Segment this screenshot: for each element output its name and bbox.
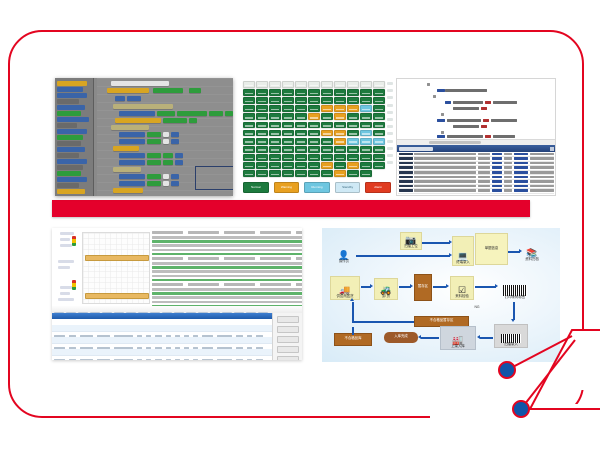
workspace-block-40[interactable] [163, 181, 169, 186]
status-cell-r6-c1[interactable] [256, 130, 268, 137]
status-cell-r8-c1[interactable] [256, 146, 268, 153]
status-cell-r0-c9[interactable] [360, 81, 372, 88]
table-side-button-0[interactable] [277, 316, 299, 323]
workspace-block-31[interactable] [163, 160, 173, 165]
status-cell-r0-c0[interactable] [243, 81, 255, 88]
status-cell-r6-c9[interactable] [360, 130, 372, 137]
status-cell-r5-c7[interactable] [334, 122, 346, 129]
log-segment-3 [492, 180, 502, 183]
status-cell-r10-c8[interactable] [347, 162, 359, 169]
planner-task-bar-0[interactable] [85, 255, 149, 261]
status-cell-r1-c4[interactable] [295, 89, 307, 96]
workspace-block-12[interactable] [115, 118, 161, 123]
workspace-block-36[interactable] [163, 174, 169, 179]
console-title-text [399, 147, 433, 151]
status-cell-r3-c3[interactable] [282, 105, 294, 112]
status-cell-r2-c3[interactable] [282, 97, 294, 104]
status-cell-r11-c9[interactable] [360, 170, 372, 177]
status-cell-r1-c3[interactable] [282, 89, 294, 96]
status-cell-r1-c1[interactable] [256, 89, 268, 96]
palette-block-14[interactable] [57, 165, 83, 170]
slide-content: NormalWarningRunningStandbyAlarm 📷 扫描工位 [0, 0, 600, 450]
workspace-block-2[interactable] [153, 88, 183, 93]
code-token-19 [447, 135, 483, 138]
planner-task-bar-1[interactable] [85, 293, 149, 299]
status-cell-r2-c10[interactable] [373, 97, 385, 104]
status-cell-r10-c2[interactable] [269, 162, 281, 169]
status-grid-legend: NormalWarningRunningStandbyAlarm [243, 182, 391, 191]
status-cell-r5-c0[interactable] [243, 122, 255, 129]
log-segment-0 [399, 157, 413, 160]
status-cell-r3-c1[interactable] [256, 105, 268, 112]
palette-block-12[interactable] [57, 153, 79, 158]
status-cell-r9-c1[interactable] [256, 154, 268, 161]
planning-matrix[interactable] [82, 232, 150, 304]
detail-block-title [152, 283, 183, 286]
detail-block-line [296, 275, 302, 278]
status-cell-r3-c7[interactable] [334, 105, 346, 112]
status-cell-r7-c7[interactable] [334, 138, 346, 145]
status-cell-r3-c2[interactable] [269, 105, 281, 112]
status-cell-r8-c9[interactable] [360, 146, 372, 153]
status-cell-r2-c0[interactable] [243, 97, 255, 104]
status-cell-r2-c6[interactable] [321, 97, 333, 104]
detail-block-title [260, 257, 291, 260]
screenshot-code-editor[interactable] [396, 78, 556, 196]
status-cell-r6-c6[interactable] [321, 130, 333, 137]
status-cell-r6-c4[interactable] [295, 130, 307, 137]
status-cell-r4-c5[interactable] [308, 113, 320, 120]
status-cell-r9-c6[interactable] [321, 154, 333, 161]
workspace-block-32[interactable] [175, 160, 183, 165]
workspace-block-15[interactable] [111, 125, 149, 130]
status-cell-r9-c10[interactable] [373, 154, 385, 161]
status-cell-r2-c4[interactable] [295, 97, 307, 104]
status-cell-r10-c4[interactable] [295, 162, 307, 169]
palette-block-17[interactable] [57, 183, 79, 188]
status-cell-r4-c10[interactable] [373, 113, 385, 120]
status-cell-r4-c8[interactable] [347, 113, 359, 120]
log-segment-4 [504, 157, 512, 160]
status-cell-r0-c5[interactable] [308, 81, 320, 88]
status-cell-r3-c5[interactable] [308, 105, 320, 112]
workspace-block-39[interactable] [147, 181, 161, 186]
status-cell-r5-c8[interactable] [347, 122, 359, 129]
status-cell-r5-c9[interactable] [360, 122, 372, 129]
status-cell-r3-c9[interactable] [360, 105, 372, 112]
palette-block-5[interactable] [57, 111, 81, 116]
status-cell-r4-c1[interactable] [256, 113, 268, 120]
status-cell-r3-c10[interactable] [373, 105, 385, 112]
connector-node-lower [512, 400, 530, 418]
status-cell-r10-c10[interactable] [373, 162, 385, 169]
console-close-icon[interactable] [550, 147, 554, 151]
status-cell-r7-c10[interactable] [373, 138, 385, 145]
status-cell-r2-c2[interactable] [269, 97, 281, 104]
log-segment-4 [504, 185, 512, 188]
log-segment-6 [530, 176, 554, 179]
palette-block-10[interactable] [57, 141, 81, 146]
status-cell-r0-c2[interactable] [269, 81, 281, 88]
flow-node-truck: 🚚 供应商送货 [330, 276, 360, 300]
palette-block-7[interactable] [57, 123, 77, 128]
workspace-block-14[interactable] [189, 118, 197, 123]
workspace-block-13[interactable] [163, 118, 187, 123]
console-log-row[interactable] [398, 189, 554, 194]
status-cell-r10-c9[interactable] [360, 162, 372, 169]
code-token-11 [437, 119, 445, 122]
status-cell-r3-c6[interactable] [321, 105, 333, 112]
status-cell-r1-c6[interactable] [321, 89, 333, 96]
palette-block-18[interactable] [57, 189, 85, 194]
detail-block-line [296, 244, 302, 247]
detail-block-title [152, 231, 183, 234]
screenshot-blocks-editor[interactable] [55, 78, 233, 196]
workspace-block-22[interactable] [163, 139, 169, 144]
log-segment-0 [399, 185, 413, 188]
block-selection-outline [195, 166, 233, 190]
status-cell-r7-c4[interactable] [295, 138, 307, 145]
status-cell-r5-c6[interactable] [321, 122, 333, 129]
status-cell-r7-c9[interactable] [360, 138, 372, 145]
status-cell-r11-c3[interactable] [282, 170, 294, 177]
screenshot-logistics-flow[interactable]: 📷 扫描工位 👤 操作员 💻 终端录入 单据信息 📚 资料归档 🚚 供应商送货 [322, 228, 560, 362]
flow-node-inspect: ☑ 来料检验 [450, 276, 474, 300]
workspace-block-23[interactable] [171, 139, 179, 144]
status-cell-r7-c1[interactable] [256, 138, 268, 145]
log-segment-2 [478, 180, 490, 183]
arrowhead-inspect-to-label [495, 284, 498, 288]
palette-block-0[interactable] [57, 81, 87, 86]
workspace-block-0[interactable] [111, 81, 169, 86]
table-side-button-4[interactable] [277, 356, 299, 360]
status-cell-r4-c3[interactable] [282, 113, 294, 120]
palette-block-1[interactable] [57, 87, 83, 92]
blocks-workspace[interactable] [97, 78, 233, 196]
code-token-21 [493, 135, 515, 138]
flow-node-storage: 暂存区 [414, 274, 432, 301]
status-cell-r5-c2[interactable] [269, 122, 281, 129]
log-segment-1 [414, 153, 476, 156]
code-token-0 [427, 83, 430, 86]
flow-node-scan-station: 📷 扫描工位 [400, 232, 422, 250]
status-cell-r7-c8[interactable] [347, 138, 359, 145]
workspace-block-34[interactable] [119, 174, 145, 179]
detail-block-title [224, 231, 255, 234]
status-cell-r5-c5[interactable] [308, 122, 320, 129]
workspace-block-28[interactable] [175, 153, 183, 158]
status-cell-r6-c8[interactable] [347, 130, 359, 137]
code-token-5 [453, 101, 483, 104]
workspace-block-21[interactable] [147, 139, 161, 144]
grid-rail-tick-5 [387, 118, 393, 121]
status-cell-r9-c4[interactable] [295, 154, 307, 161]
arrow-scan-to-putaway [480, 337, 493, 339]
status-cell-r0-c7[interactable] [334, 81, 346, 88]
log-segment-6 [530, 180, 554, 183]
workspace-block-6[interactable] [113, 104, 173, 109]
planner-rail-chip-4 [58, 266, 70, 269]
planner-signal-0 [72, 236, 76, 246]
table-row[interactable] [52, 355, 272, 360]
code-token-4 [445, 101, 451, 104]
status-cell-r2-c8[interactable] [347, 97, 359, 104]
status-cell-r4-c0[interactable] [243, 113, 255, 120]
screenshot-status-grid[interactable]: NormalWarningRunningStandbyAlarm [241, 78, 393, 198]
code-token-13 [483, 119, 489, 122]
workspace-block-7[interactable] [119, 111, 155, 116]
palette-block-2[interactable] [57, 93, 87, 98]
status-cell-r11-c6[interactable] [321, 170, 333, 177]
workspace-block-18[interactable] [163, 132, 169, 137]
flow-node-scan-in: 扫描录入 [494, 324, 528, 348]
status-cell-r6-c2[interactable] [269, 130, 281, 137]
status-cell-r0-c3[interactable] [282, 81, 294, 88]
palette-block-8[interactable] [57, 129, 87, 134]
status-cell-r1-c7[interactable] [334, 89, 346, 96]
status-cell-r8-c5[interactable] [308, 146, 320, 153]
status-cell-r8-c8[interactable] [347, 146, 359, 153]
status-cell-r10-c5[interactable] [308, 162, 320, 169]
log-segment-3 [492, 166, 502, 169]
status-cell-r10-c1[interactable] [256, 162, 268, 169]
status-cell-r6-c0[interactable] [243, 130, 255, 137]
workspace-block-33[interactable] [113, 167, 141, 172]
status-cell-r8-c7[interactable] [334, 146, 346, 153]
workspace-block-11[interactable] [225, 111, 233, 116]
status-cell-r11-c7[interactable] [334, 170, 346, 177]
status-cell-r1-c0[interactable] [243, 89, 255, 96]
arrowhead-storage-to-inspect [446, 284, 449, 288]
palette-block-4[interactable] [57, 105, 85, 110]
log-segment-2 [478, 166, 490, 169]
table-side-button-1[interactable] [277, 326, 299, 333]
table-side-button-3[interactable] [277, 346, 299, 353]
status-cell-r11-c0[interactable] [243, 170, 255, 177]
detail-block-line [296, 249, 302, 252]
signal-lamp-g [72, 243, 76, 246]
status-cell-r1-c8[interactable] [347, 89, 359, 96]
workspace-block-42[interactable] [113, 188, 143, 193]
code-token-3 [433, 95, 436, 98]
workspace-block-8[interactable] [157, 111, 175, 116]
arrow-reject-store-up [352, 327, 354, 335]
status-cell-r5-c1[interactable] [256, 122, 268, 129]
status-cell-r5-c10[interactable] [373, 122, 385, 129]
workspace-block-35[interactable] [147, 174, 161, 179]
status-cell-r4-c6[interactable] [321, 113, 333, 120]
workspace-block-37[interactable] [171, 174, 179, 179]
palette-block-3[interactable] [57, 99, 79, 104]
detail-block-title [296, 257, 302, 260]
log-segment-6 [530, 171, 554, 174]
status-cell-r3-c4[interactable] [295, 105, 307, 112]
status-cell-r11-c8[interactable] [347, 170, 359, 177]
workspace-block-20[interactable] [119, 139, 145, 144]
detail-block-line [296, 301, 302, 304]
grid-rail-tick-8 [387, 140, 393, 143]
workspace-block-10[interactable] [209, 111, 223, 116]
status-cell-r8-c2[interactable] [269, 146, 281, 153]
status-cell-r3-c8[interactable] [347, 105, 359, 112]
status-cell-r3-c0[interactable] [243, 105, 255, 112]
log-segment-0 [399, 153, 413, 156]
status-cell-r1-c5[interactable] [308, 89, 320, 96]
log-segment-2 [478, 189, 490, 192]
table-side-button-2[interactable] [277, 336, 299, 343]
legend-item-info: Running [304, 182, 330, 193]
palette-block-9[interactable] [57, 135, 83, 140]
workspace-block-3[interactable] [189, 88, 201, 93]
status-cell-r8-c6[interactable] [321, 146, 333, 153]
workspace-block-27[interactable] [163, 153, 173, 158]
workspace-block-38[interactable] [119, 181, 145, 186]
status-cell-r2-c1[interactable] [256, 97, 268, 104]
status-cell-r7-c0[interactable] [243, 138, 255, 145]
status-cell-r4-c7[interactable] [334, 113, 346, 120]
status-cell-r8-c0[interactable] [243, 146, 255, 153]
status-cell-r5-c3[interactable] [282, 122, 294, 129]
code-text-area[interactable] [397, 79, 555, 139]
status-cell-r11-c1[interactable] [256, 170, 268, 177]
status-cell-r11-c4[interactable] [295, 170, 307, 177]
planning-gantt-area[interactable] [52, 228, 302, 304]
status-cell-r1-c9[interactable] [360, 89, 372, 96]
status-cell-r2-c7[interactable] [334, 97, 346, 104]
detail-block-line [296, 236, 302, 239]
workspace-block-41[interactable] [171, 181, 179, 186]
code-token-9 [481, 107, 487, 110]
status-cell-r11-c5[interactable] [308, 170, 320, 177]
planner-rail-chip-2 [60, 244, 72, 247]
arrowhead-unload-to-storage [410, 284, 413, 288]
status-cell-r10-c3[interactable] [282, 162, 294, 169]
status-cell-r0-c6[interactable] [321, 81, 333, 88]
status-cell-r8-c10[interactable] [373, 146, 385, 153]
status-cell-r6-c7[interactable] [334, 130, 346, 137]
status-cell-r7-c5[interactable] [308, 138, 320, 145]
status-cell-r4-c4[interactable] [295, 113, 307, 120]
log-segment-1 [414, 166, 476, 169]
blocks-palette[interactable] [55, 78, 94, 196]
status-cell-r9-c2[interactable] [269, 154, 281, 161]
code-token-6 [485, 101, 491, 104]
status-cell-r7-c2[interactable] [269, 138, 281, 145]
log-segment-2 [478, 153, 490, 156]
detail-block-title [224, 283, 255, 286]
log-segment-0 [399, 180, 413, 183]
code-token-8 [453, 107, 479, 110]
planner-signal-1 [72, 280, 76, 290]
workspace-block-1[interactable] [107, 88, 149, 93]
arrowhead-label-down [511, 319, 515, 322]
palette-block-15[interactable] [57, 171, 81, 176]
planning-data-table[interactable] [52, 306, 302, 360]
status-cell-r2-c5[interactable] [308, 97, 320, 104]
workspace-block-17[interactable] [147, 132, 161, 137]
status-cell-r6-c3[interactable] [282, 130, 294, 137]
status-cell-r9-c0[interactable] [243, 154, 255, 161]
console-log-list[interactable] [397, 152, 555, 195]
workspace-block-26[interactable] [147, 153, 161, 158]
palette-block-13[interactable] [57, 159, 87, 164]
status-cell-r1-c2[interactable] [269, 89, 281, 96]
status-cell-r4-c2[interactable] [269, 113, 281, 120]
planner-rail-chip-3 [58, 260, 74, 263]
status-cell-r9-c3[interactable] [282, 154, 294, 161]
status-cell-r8-c4[interactable] [295, 146, 307, 153]
arrow-operator-to-terminal [356, 255, 450, 257]
grid-rail-tick-6 [387, 125, 393, 128]
code-token-20 [485, 135, 491, 138]
status-cell-r1-c10[interactable] [373, 89, 385, 96]
status-cell-r0-c4[interactable] [295, 81, 307, 88]
status-cell-r10-c0[interactable] [243, 162, 255, 169]
detail-block-title [152, 257, 183, 260]
status-cell-r9-c8[interactable] [347, 154, 359, 161]
status-cell-r0-c10[interactable] [373, 81, 385, 88]
log-segment-0 [399, 166, 413, 169]
status-cell-r9-c7[interactable] [334, 154, 346, 161]
barcode-icon [503, 285, 527, 296]
log-segment-2 [478, 157, 490, 160]
workspace-block-4[interactable] [115, 96, 125, 101]
detail-block-title [224, 257, 255, 260]
status-cell-r7-c3[interactable] [282, 138, 294, 145]
log-segment-4 [504, 189, 512, 192]
palette-block-6[interactable] [57, 117, 89, 122]
workspace-block-29[interactable] [119, 160, 145, 165]
status-cell-r10-c6[interactable] [321, 162, 333, 169]
status-cell-r9-c5[interactable] [308, 154, 320, 161]
workspace-block-25[interactable] [119, 153, 145, 158]
status-cell-r0-c8[interactable] [347, 81, 359, 88]
status-cell-r6-c5[interactable] [308, 130, 320, 137]
status-cell-r11-c2[interactable] [269, 170, 281, 177]
status-cell-r10-c7[interactable] [334, 162, 346, 169]
status-cell-r0-c1[interactable] [256, 81, 268, 88]
log-segment-3 [492, 185, 502, 188]
status-cell-r6-c10[interactable] [373, 130, 385, 137]
workspace-block-9[interactable] [177, 111, 207, 116]
log-segment-1 [414, 157, 476, 160]
palette-block-16[interactable] [57, 177, 87, 182]
workspace-block-24[interactable] [113, 146, 139, 151]
arrowhead-scan-to-putaway [477, 335, 480, 339]
table-side-buttons[interactable] [272, 313, 302, 360]
code-token-10 [441, 113, 444, 116]
planning-rail [56, 230, 80, 302]
workspace-block-16[interactable] [119, 132, 145, 137]
workspace-block-19[interactable] [171, 132, 179, 137]
arrow-label-down [513, 302, 515, 320]
status-cell-r7-c6[interactable] [321, 138, 333, 145]
status-cell-r2-c9[interactable] [360, 97, 372, 104]
workspace-block-5[interactable] [127, 96, 141, 101]
status-cell-r9-c9[interactable] [360, 154, 372, 161]
detail-block-title [188, 231, 219, 234]
status-grid-cells[interactable] [243, 81, 385, 177]
detail-block-title [188, 257, 219, 260]
log-segment-3 [492, 157, 502, 160]
palette-block-11[interactable] [57, 147, 85, 152]
status-cell-r8-c3[interactable] [282, 146, 294, 153]
log-segment-5 [514, 162, 528, 165]
status-cell-r4-c9[interactable] [360, 113, 372, 120]
status-cell-r5-c4[interactable] [295, 122, 307, 129]
workspace-block-30[interactable] [147, 160, 161, 165]
screenshot-planning-board[interactable] [52, 228, 302, 360]
